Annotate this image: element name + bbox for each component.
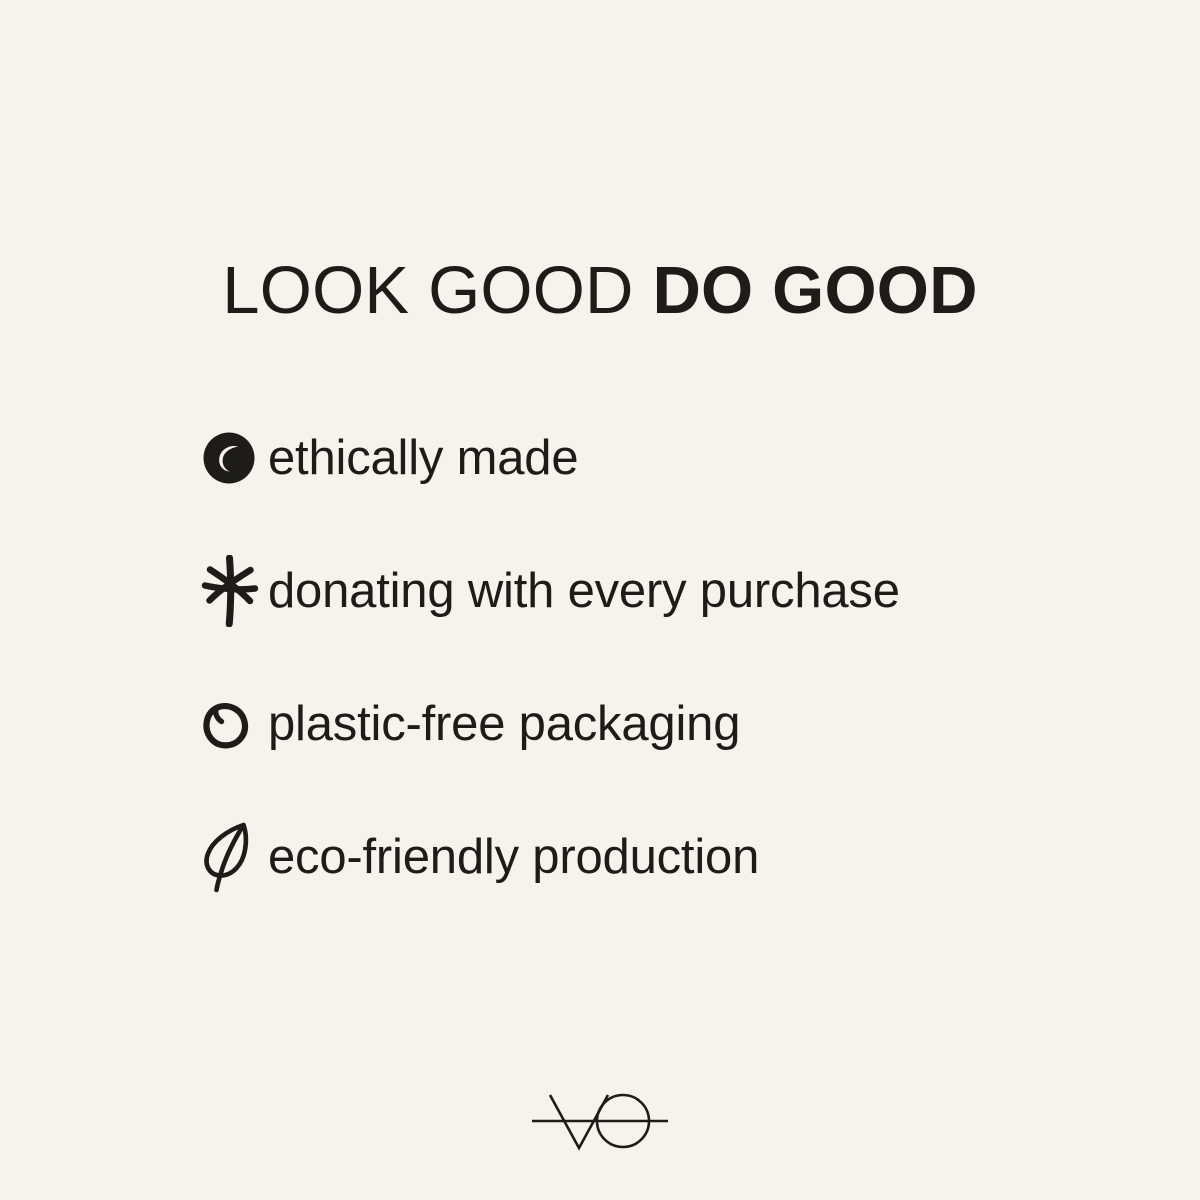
open-ring-icon (200, 693, 262, 755)
swirl-circle-icon (200, 427, 262, 489)
headline-light-text: LOOK GOOD (222, 253, 633, 328)
poster-canvas: LOOK GOOD DO GOOD ethically made (0, 0, 1200, 1200)
page-title: LOOK GOOD DO GOOD (0, 257, 1200, 324)
list-item: eco-friendly production (200, 807, 1100, 907)
list-item-label: ethically made (262, 434, 578, 483)
list-item-label: plastic-free packaging (262, 700, 740, 749)
list-item-label: donating with every purchase (262, 567, 900, 616)
vo-monogram-icon (530, 1086, 670, 1152)
sparkle-star-icon (200, 560, 262, 622)
leaf-icon (200, 826, 262, 888)
list-item-label: eco-friendly production (262, 833, 759, 882)
headline-separator (634, 253, 653, 328)
brand-logo (0, 1086, 1200, 1152)
list-item: donating with every purchase (200, 541, 1100, 641)
feature-list: ethically made donating with every purch… (200, 408, 1100, 907)
list-item: ethically made (200, 408, 1100, 508)
headline-bold-text: DO GOOD (652, 253, 977, 328)
list-item: plastic-free packaging (200, 674, 1100, 774)
